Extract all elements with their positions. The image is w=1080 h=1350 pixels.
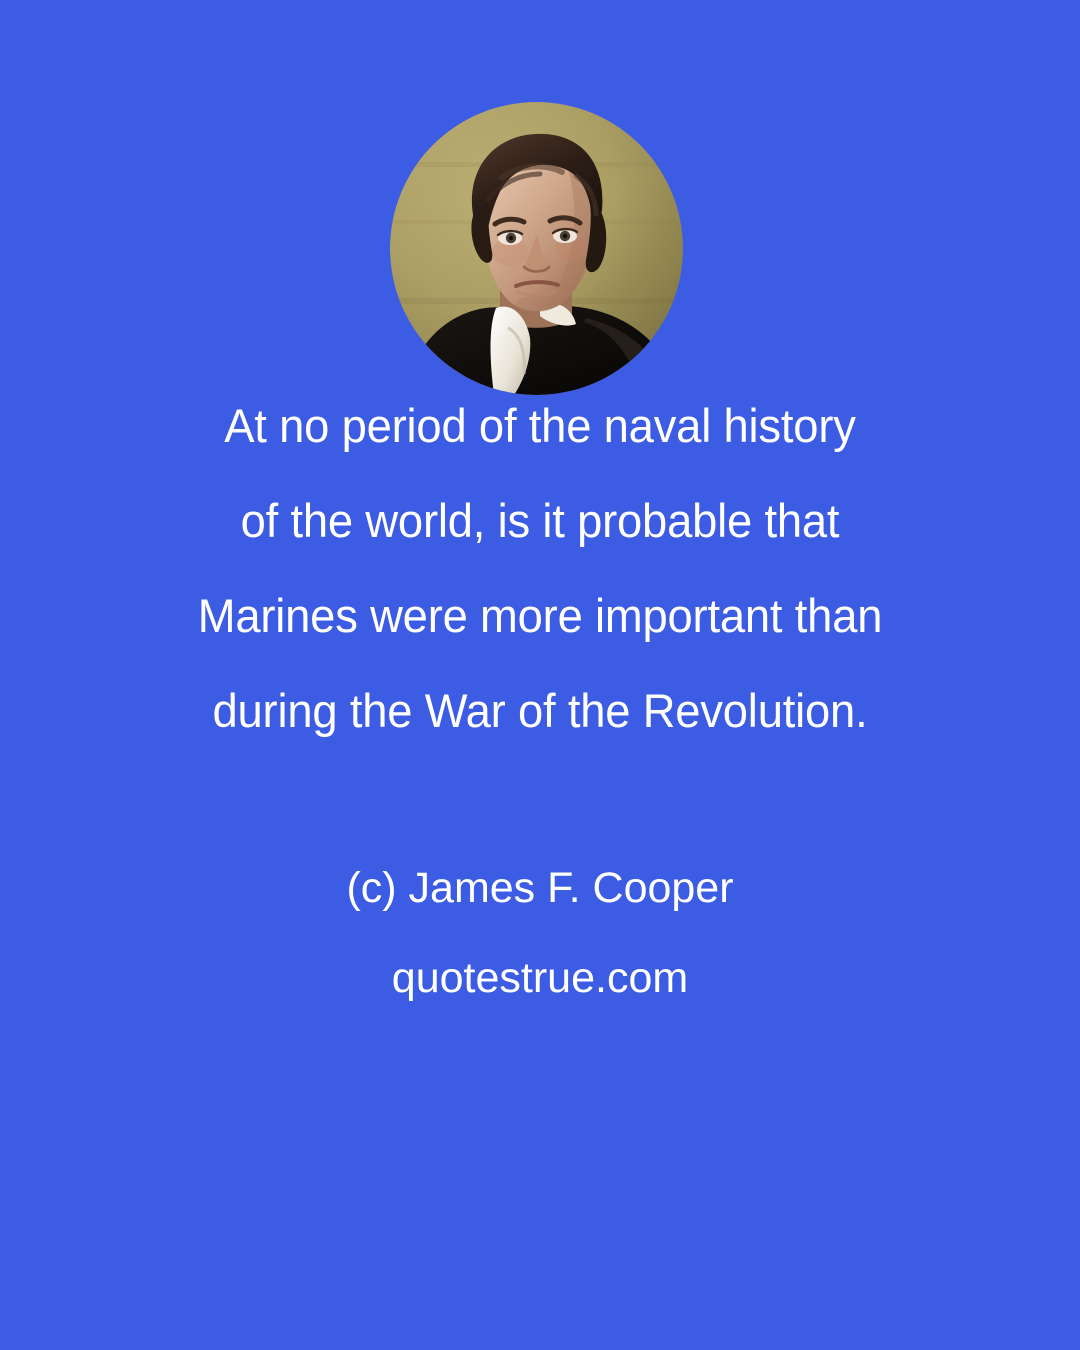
quote-attribution: (c) James F. Cooper: [0, 862, 1080, 914]
quote-line: of the world, is it probable that: [19, 473, 1061, 568]
quote-card: At no period of the naval history of the…: [0, 0, 1080, 1350]
quote-line: Marines were more important than: [19, 568, 1061, 663]
quote-text: At no period of the naval history of the…: [0, 378, 1080, 758]
author-portrait-image: [390, 102, 683, 395]
quote-line: during the War of the Revolution.: [19, 663, 1061, 758]
site-watermark: quotestrue.com: [0, 952, 1080, 1004]
quote-line: At no period of the naval history: [19, 378, 1061, 473]
